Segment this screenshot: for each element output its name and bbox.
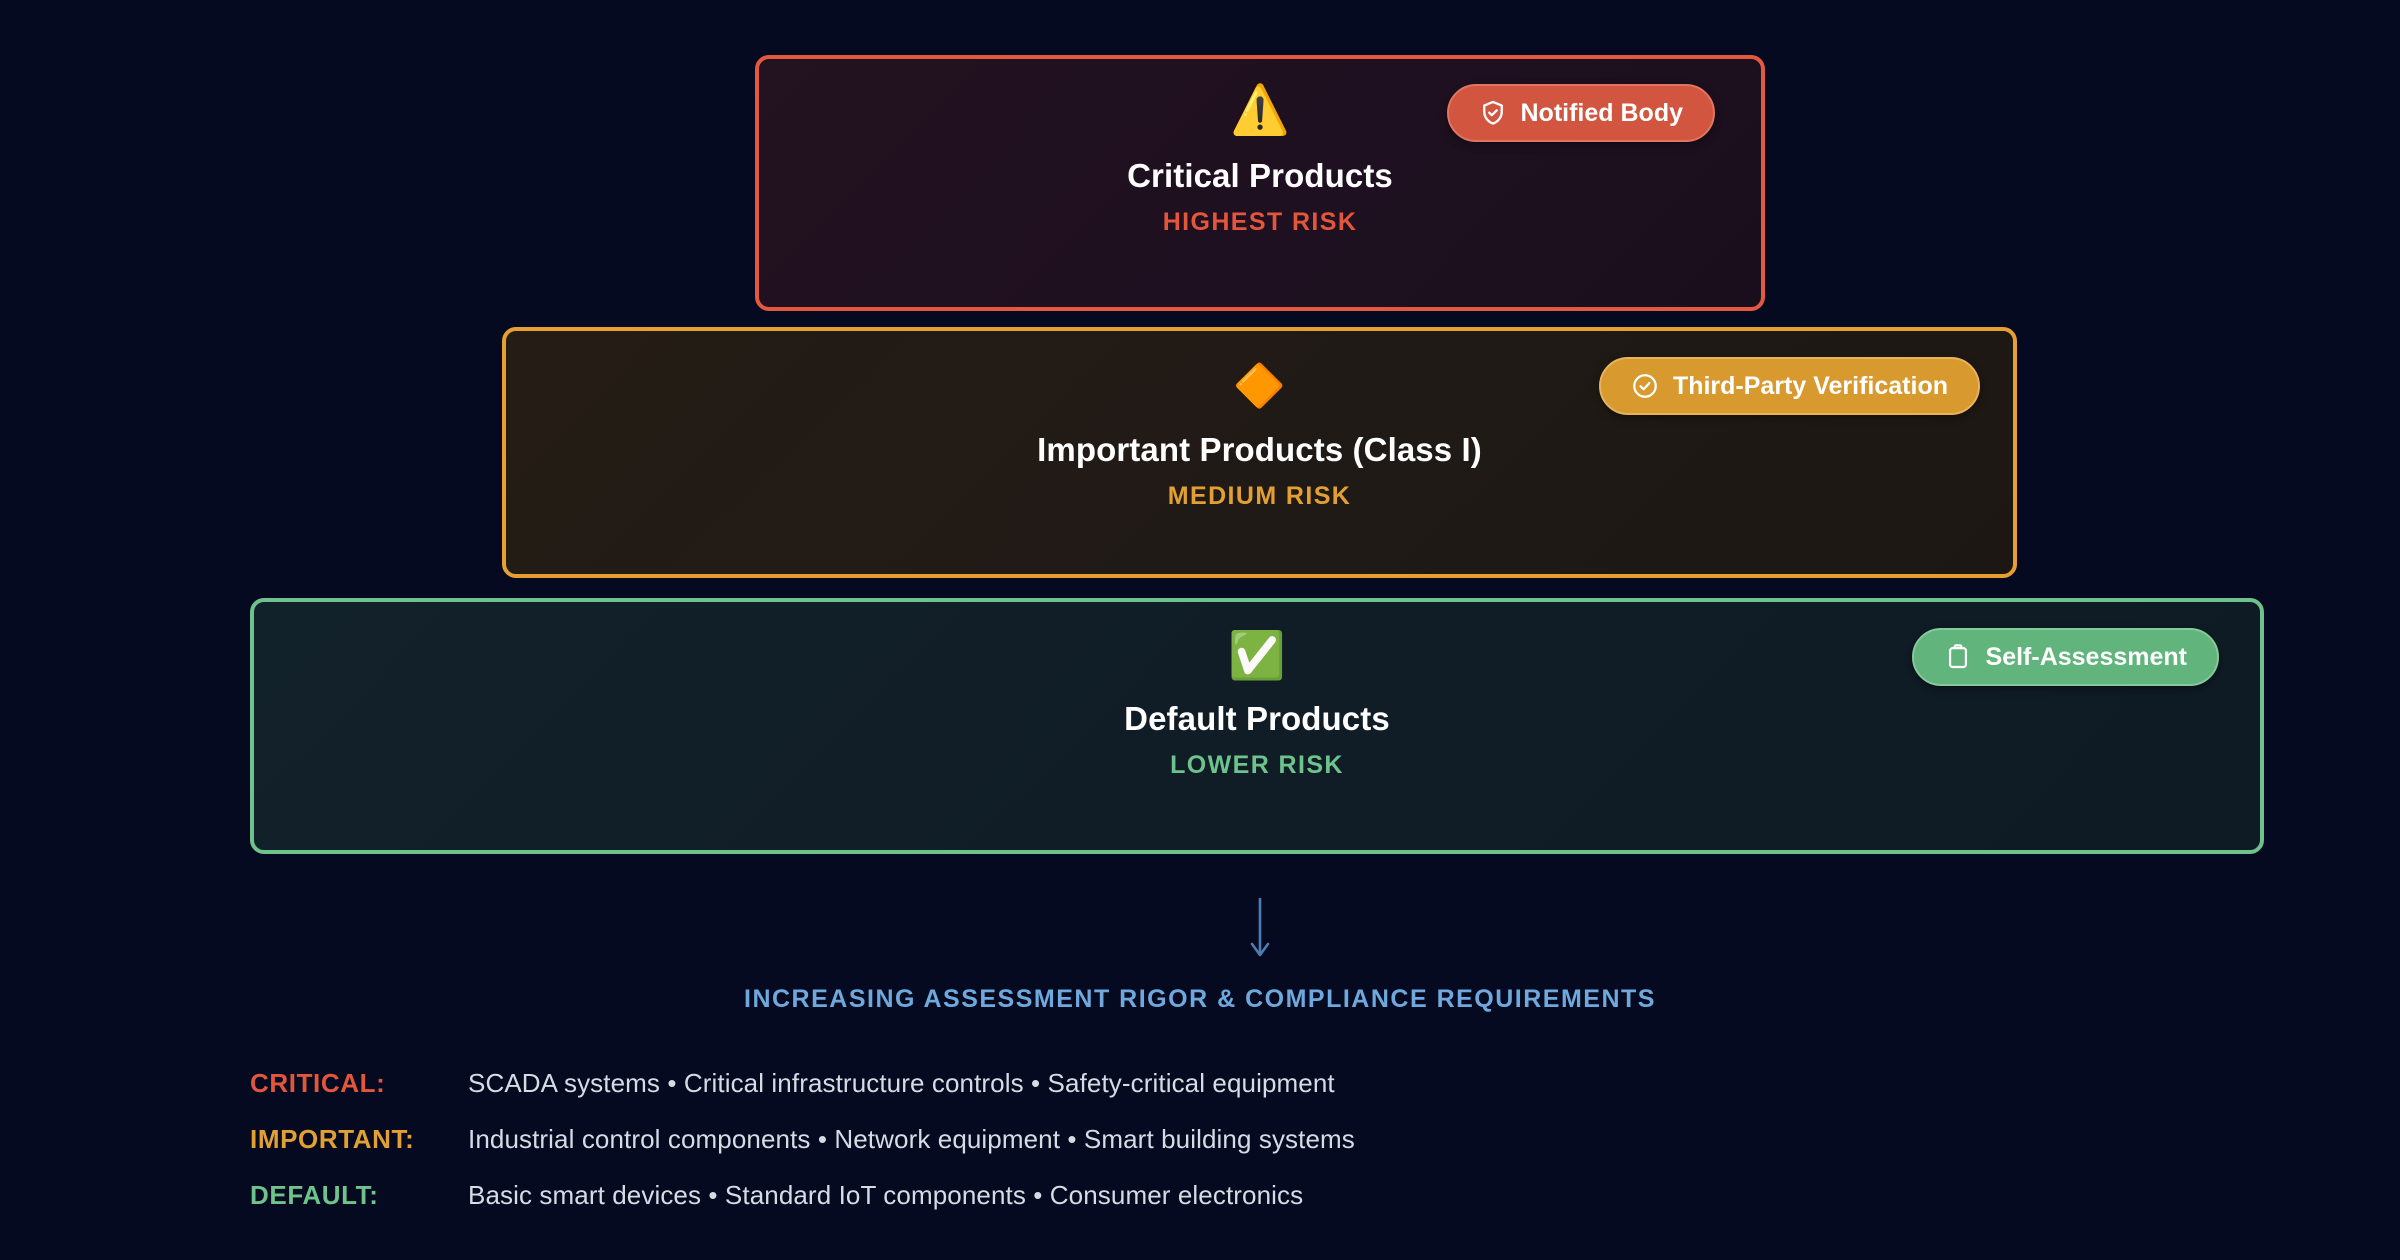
legend-row: IMPORTANT: Industrial control components… [250, 1124, 2150, 1180]
tier-title-critical: Critical Products [1127, 157, 1393, 195]
tier-title-important: Important Products (Class I) [1037, 431, 1482, 469]
legend-label-important: IMPORTANT: [250, 1124, 468, 1155]
tier-card-default[interactable]: ✅ Default Products LOWER RISK Self-Asses… [250, 598, 2264, 854]
tier-risk-label-default: LOWER RISK [1170, 751, 1344, 780]
tier-card-critical[interactable]: ⚠️ Critical Products HIGHEST RISK Notifi… [755, 55, 1765, 311]
legend-row: DEFAULT: Basic smart devices • Standard … [250, 1180, 2150, 1236]
tier-risk-label-critical: HIGHEST RISK [1163, 208, 1358, 237]
badge-third-party-verification[interactable]: Third-Party Verification [1599, 357, 1980, 415]
legend-items-default: Basic smart devices • Standard IoT compo… [468, 1180, 1303, 1211]
legend-label-critical: CRITICAL: [250, 1068, 468, 1099]
legend-items-important: Industrial control components • Network … [468, 1124, 1355, 1155]
warning-triangle-icon: ⚠️ [1230, 87, 1290, 135]
flow-caption: INCREASING ASSESSMENT RIGOR & COMPLIANCE… [0, 985, 2400, 1014]
check-mark-button-icon: ✅ [1228, 632, 1285, 678]
badge-notified-body[interactable]: Notified Body [1447, 84, 1716, 142]
badge-label-critical: Notified Body [1521, 99, 1684, 128]
orange-diamond-icon: 🔶 [1233, 365, 1285, 407]
legend-row: CRITICAL: SCADA systems • Critical infra… [250, 1068, 2150, 1124]
tier-risk-label-important: MEDIUM RISK [1168, 482, 1351, 511]
tier-card-important[interactable]: 🔶 Important Products (Class I) MEDIUM RI… [502, 327, 2017, 578]
shield-check-icon [1479, 99, 1507, 127]
circle-check-icon [1631, 372, 1659, 400]
down-arrow-icon [1238, 898, 1282, 960]
badge-label-default: Self-Assessment [1986, 643, 2187, 672]
risk-pyramid-diagram: ⚠️ Critical Products HIGHEST RISK Notifi… [0, 0, 2400, 1260]
legend-label-default: DEFAULT: [250, 1180, 468, 1211]
legend-items-critical: SCADA systems • Critical infrastructure … [468, 1068, 1335, 1099]
clipboard-icon [1944, 643, 1972, 671]
badge-self-assessment[interactable]: Self-Assessment [1912, 628, 2219, 686]
tier-title-default: Default Products [1124, 700, 1390, 738]
legend: CRITICAL: SCADA systems • Critical infra… [250, 1068, 2150, 1236]
badge-label-important: Third-Party Verification [1673, 372, 1948, 401]
